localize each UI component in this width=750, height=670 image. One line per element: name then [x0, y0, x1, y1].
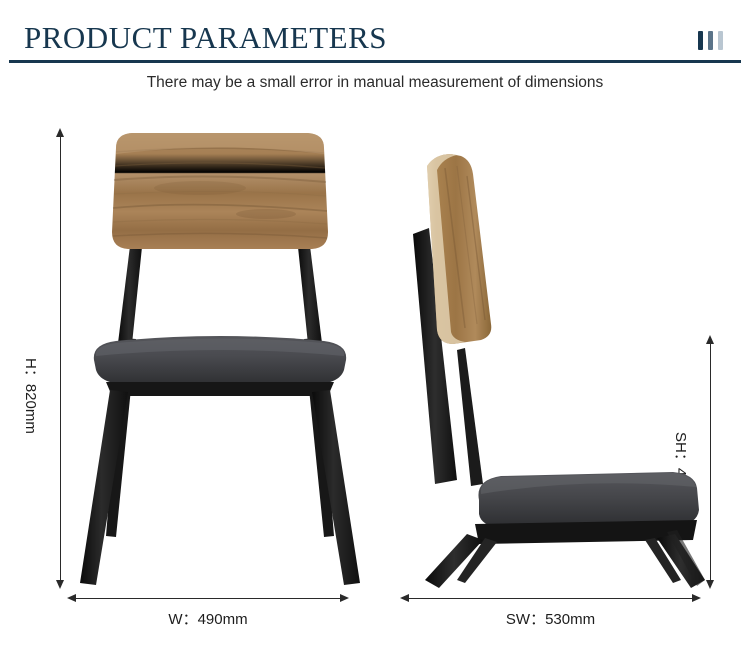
page-title: PRODUCT PARAMETERS — [24, 20, 387, 56]
height-dimension-line — [60, 134, 61, 586]
seat-width-dimension-line — [409, 598, 692, 599]
header-decoration-bars — [698, 31, 723, 50]
back-support-post — [457, 348, 483, 486]
height-dimension-label: H：820mm — [21, 358, 42, 434]
seat-width-dimension-label: SW：530mm — [409, 608, 692, 629]
seat-frame — [106, 382, 334, 396]
width-dimension-label: W：490mm — [76, 608, 340, 629]
product-diagram: H：820mm SH：460mm W：490mm SW：530mm — [0, 110, 750, 670]
chair-front-view — [70, 128, 370, 598]
width-dimension-line — [76, 598, 340, 599]
chair-side-view — [405, 128, 705, 598]
header-divider — [9, 60, 741, 63]
seat-height-dimension-line — [710, 341, 711, 586]
page-header: PRODUCT PARAMETERS — [0, 0, 750, 62]
decoration-bar-dark — [698, 31, 703, 50]
back-post-left — [118, 246, 142, 344]
decoration-bar-light — [718, 31, 723, 50]
seat-height-arrow-bottom — [706, 580, 714, 589]
height-arrow-bottom — [56, 580, 64, 589]
decoration-bar-medium — [708, 31, 713, 50]
measurement-disclaimer: There may be a small error in manual mea… — [0, 74, 750, 92]
back-post-right — [298, 246, 322, 344]
